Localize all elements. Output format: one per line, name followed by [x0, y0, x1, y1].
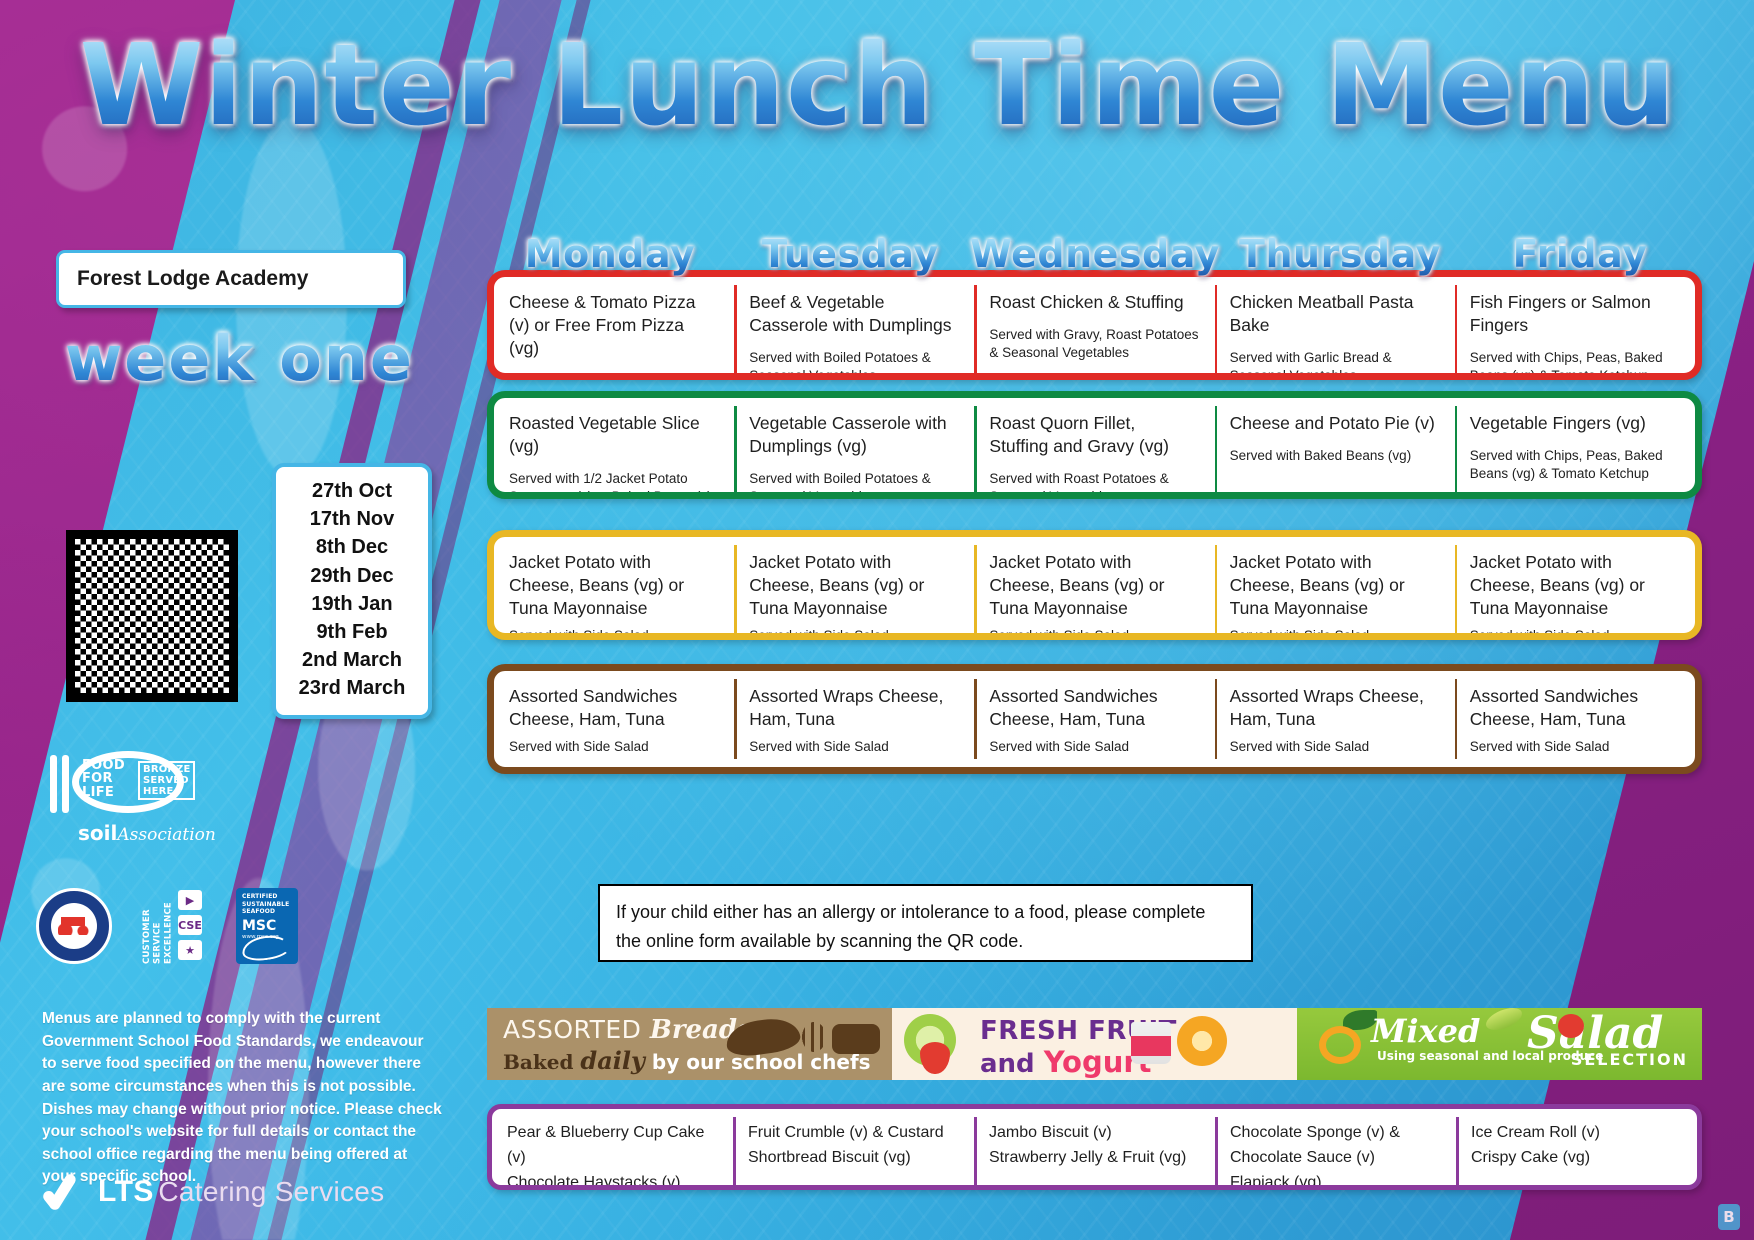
day-header-monday: Monday	[490, 232, 730, 276]
soil-word: soil	[78, 821, 117, 845]
dish-description: Served with 1/2 Jacket Potato or Savoury…	[509, 372, 718, 380]
ffl-line1: FOOD	[82, 759, 125, 772]
dish-description: Served with Side Salad	[1230, 738, 1439, 756]
dish-name: Jacket Potato with Cheese, Beans (vg) or…	[509, 551, 718, 620]
orange-slice-icon	[1177, 1016, 1227, 1066]
qr-code[interactable]	[66, 530, 238, 702]
dish-description: Served with Boiled Potatoes & Seasonal V…	[749, 470, 958, 499]
dish-description: Served with Chips, Peas, Baked Beans (vg…	[1470, 447, 1679, 483]
date-line: 19th Jan	[290, 590, 414, 618]
menu-cell: Assorted Wraps Cheese, Ham, TunaServed w…	[734, 671, 974, 767]
day-header-wednesday: Wednesday	[970, 232, 1220, 276]
dish-name: Jacket Potato with Cheese, Beans (vg) or…	[989, 551, 1198, 620]
dish-description: Served with Boiled Potatoes & Seasonal V…	[749, 349, 958, 380]
menu-cell: Assorted Sandwiches Cheese, Ham, TunaSer…	[1455, 671, 1695, 767]
dish-name: Beef & Vegetable Casserole with Dumpling…	[749, 291, 958, 337]
banner-fresh-fruit-yogurt: FRESH FRUIT and Yogurt	[892, 1008, 1297, 1080]
food-for-life-text: FOOD FOR LIFE	[82, 759, 125, 799]
dish-description: Served with Side Salad	[509, 738, 718, 756]
menu-cell: Jacket Potato with Cheese, Beans (vg) or…	[974, 537, 1214, 640]
cse-play-icon: ▶	[178, 890, 202, 910]
dish-name: Fruit Crumble (v) & Custard Shortbread B…	[748, 1121, 958, 1171]
dish-name: Jacket Potato with Cheese, Beans (vg) or…	[1470, 551, 1679, 620]
salad-subtext: Using seasonal and local produce	[1377, 1049, 1603, 1063]
dish-description: Served with Roast Potatoes & Seasonal Ve…	[989, 470, 1198, 499]
menu-poster: Winter Lunch Time Menu Forest Lodge Acad…	[0, 0, 1754, 1240]
bread-headline: ASSORTED Breads	[503, 1015, 752, 1045]
yogurt-pot-icon	[1131, 1022, 1171, 1064]
cse-star-icon: ★	[178, 940, 202, 960]
menu-cell: Vegetable Casserole with Dumplings (vg)S…	[734, 398, 974, 499]
tractor-icon	[51, 903, 97, 949]
cucumber-icon	[1483, 1008, 1525, 1034]
date-line: 17th Nov	[290, 505, 414, 533]
bread-line2a: Baked	[503, 1050, 580, 1074]
dish-description: Served with Side Salad	[749, 738, 958, 756]
menu-cell: Cheese & Tomato Pizza (v) or Free From P…	[494, 277, 734, 380]
dish-name: Ice Cream Roll (v) Crispy Cake (vg)	[1471, 1121, 1681, 1171]
menu-cell: Vegetable Fingers (vg)Served with Chips,…	[1455, 398, 1695, 499]
dish-name: Cheese and Potato Pie (v)	[1230, 412, 1439, 435]
menu-cell: Cheese and Potato Pie (v)Served with Bak…	[1215, 398, 1455, 499]
dish-name: Assorted Sandwiches Cheese, Ham, Tuna	[509, 685, 718, 731]
msc-line2: MSC	[242, 918, 293, 934]
dish-name: Fish Fingers or Salmon Fingers	[1470, 291, 1679, 337]
date-line: 23rd March	[290, 674, 414, 702]
steam-icon	[802, 1022, 826, 1052]
date-line: 9th Feb	[290, 618, 414, 646]
salad-word1: Mixed	[1371, 1012, 1480, 1050]
fork-icon	[50, 755, 57, 813]
fruit-line2a: and	[980, 1049, 1044, 1079]
tomato-icon	[1558, 1014, 1584, 1038]
page-title: Winter Lunch Time Menu	[48, 28, 1708, 146]
menu-cell: Jambo Biscuit (v) Strawberry Jelly & Fru…	[974, 1109, 1215, 1190]
dish-name: Roast Chicken & Stuffing	[989, 291, 1198, 314]
dish-name: Jacket Potato with Cheese, Beans (vg) or…	[749, 551, 958, 620]
dish-name: Roasted Vegetable Slice (vg)	[509, 412, 718, 458]
menu-cell: Assorted Wraps Cheese, Ham, TunaServed w…	[1215, 671, 1455, 767]
dish-name: Jambo Biscuit (v) Strawberry Jelly & Fru…	[989, 1121, 1199, 1171]
menu-cell: Beef & Vegetable Casserole with Dumpling…	[734, 277, 974, 380]
menu-cell: Fruit Crumble (v) & Custard Shortbread B…	[733, 1109, 974, 1190]
bronze-line3: HERE	[143, 786, 190, 797]
soil-association-text: soilAssociation	[78, 821, 216, 845]
date-line: 29th Dec	[290, 562, 414, 590]
bread-roll-icon	[832, 1024, 880, 1054]
lts-light-label: Catering Services	[158, 1176, 384, 1207]
msc-line1: CERTIFIED SUSTAINABLE SEAFOOD	[242, 893, 293, 916]
customer-service-excellence-icon: CUSTOMER SERVICE EXCELLENCE ▶ CSE ★	[142, 890, 216, 964]
menu-cell: Jacket Potato with Cheese, Beans (vg) or…	[1455, 537, 1695, 640]
menu-cell: Jacket Potato with Cheese, Beans (vg) or…	[734, 537, 974, 640]
side-options-banners: ASSORTED Breads Baked daily by our schoo…	[487, 1008, 1702, 1080]
menu-cell: Chocolate Sponge (v) & Chocolate Sauce (…	[1215, 1109, 1456, 1190]
dish-description: Served with Side Salad	[1470, 738, 1679, 756]
lts-catering-logo: LTS Catering Services	[44, 1175, 384, 1209]
day-header-friday: Friday	[1460, 232, 1700, 276]
cse-badge-label: CSE	[178, 915, 202, 935]
dish-description: Served with Chips, Peas, Baked Beans (vg…	[1470, 349, 1679, 380]
dish-description: Served with Gravy, Roast Potatoes & Seas…	[989, 326, 1198, 362]
tractor-glyph	[58, 915, 90, 935]
dish-name: Pear & Blueberry Cup Cake (v) Chocolate …	[507, 1121, 717, 1190]
dish-name: Vegetable Casserole with Dumplings (vg)	[749, 412, 958, 458]
school-name-box: Forest Lodge Academy	[56, 250, 406, 308]
dish-name: Assorted Wraps Cheese, Ham, Tuna	[1230, 685, 1439, 731]
pepper-icon	[1319, 1026, 1361, 1064]
disclaimer-text: Menus are planned to comply with the cur…	[42, 1008, 442, 1189]
dish-name: Chocolate Sponge (v) & Chocolate Sauce (…	[1230, 1121, 1440, 1190]
menu-row-vegetarian: Roasted Vegetable Slice (vg)Served with …	[487, 391, 1702, 499]
qr-code-pattern	[75, 539, 229, 693]
date-line: 2nd March	[290, 646, 414, 674]
dish-name: Vegetable Fingers (vg)	[1470, 412, 1679, 435]
menu-cell: Chicken Meatball Pasta BakeServed with G…	[1215, 277, 1455, 380]
dish-name: Cheese & Tomato Pizza (v) or Free From P…	[509, 291, 718, 360]
bread-line2b: daily	[580, 1046, 645, 1075]
menu-cell: Roast Chicken & StuffingServed with Grav…	[974, 277, 1214, 380]
menu-cell: Roasted Vegetable Slice (vg)Served with …	[494, 398, 734, 499]
checkmark-icon	[44, 1176, 88, 1208]
dish-description: Served with Side Salad	[1470, 627, 1679, 640]
menu-row-jacket-potato: Jacket Potato with Cheese, Beans (vg) or…	[487, 530, 1702, 640]
assured-food-standards-icon	[36, 888, 112, 964]
dish-name: Chicken Meatball Pasta Bake	[1230, 291, 1439, 337]
cse-vertical-label: CUSTOMER SERVICE EXCELLENCE	[142, 892, 174, 964]
banner-mixed-salad: Mixed Salad Using seasonal and local pro…	[1297, 1008, 1702, 1080]
bronze-line2: SERVED	[143, 775, 190, 786]
association-word: Association	[117, 825, 216, 845]
dish-description: Served with 1/2 Jacket Potato Sweetcorn …	[509, 470, 718, 499]
menu-cell: Pear & Blueberry Cup Cake (v) Chocolate …	[492, 1109, 733, 1190]
salad-selection-label: SELECTION	[1571, 1050, 1688, 1069]
menu-row-main-meal: Cheese & Tomato Pizza (v) or Free From P…	[487, 270, 1702, 380]
dish-description: Served with Side Salad	[509, 627, 718, 640]
dish-description: Served with Side Salad	[749, 627, 958, 640]
lts-bold-label: LTS	[98, 1175, 154, 1208]
dish-description: Served with Garlic Bread & Seasonal Vege…	[1230, 349, 1439, 380]
menu-cell: Roast Quorn Fillet, Stuffing and Gravy (…	[974, 398, 1214, 499]
menu-row-desserts: Pear & Blueberry Cup Cake (v) Chocolate …	[487, 1104, 1702, 1190]
day-headers-row: MondayTuesdayWednesdayThursdayFriday	[490, 232, 1700, 276]
school-name-label: Forest Lodge Academy	[77, 267, 308, 291]
dish-description: Served with Side Salad	[989, 627, 1198, 640]
dish-description: Served with Side Salad	[1230, 627, 1439, 640]
dates-box: 27th Oct17th Nov8th Dec29th Dec19th Jan9…	[272, 463, 432, 719]
dish-name: Roast Quorn Fillet, Stuffing and Gravy (…	[989, 412, 1198, 458]
menu-cell: Jacket Potato with Cheese, Beans (vg) or…	[1215, 537, 1455, 640]
menu-cell: Assorted Sandwiches Cheese, Ham, TunaSer…	[494, 671, 734, 767]
accreditation-badges: CUSTOMER SERVICE EXCELLENCE ▶ CSE ★ CERT…	[36, 888, 336, 966]
dish-name: Assorted Sandwiches Cheese, Ham, Tuna	[989, 685, 1198, 731]
knife-icon	[62, 755, 69, 813]
ffl-line3: LIFE	[82, 786, 125, 799]
strawberry-icon	[920, 1042, 950, 1074]
banner-assorted-breads: ASSORTED Breads Baked daily by our schoo…	[487, 1008, 892, 1080]
bronze-award-box: BRONZE SERVED HERE	[138, 761, 195, 800]
menu-cell: Assorted Sandwiches Cheese, Ham, TunaSer…	[974, 671, 1214, 767]
menu-cell: Ice Cream Roll (v) Crispy Cake (vg)	[1456, 1109, 1697, 1190]
date-line: 27th Oct	[290, 477, 414, 505]
bronze-line1: BRONZE	[143, 764, 190, 775]
menu-row-sandwiches: Assorted Sandwiches Cheese, Ham, TunaSer…	[487, 664, 1702, 774]
day-header-thursday: Thursday	[1220, 232, 1460, 276]
dish-name: Assorted Wraps Cheese, Ham, Tuna	[749, 685, 958, 731]
dish-description: Served with Baked Beans (vg)	[1230, 447, 1439, 465]
date-line: 8th Dec	[290, 533, 414, 561]
dish-description: Served with Side Salad	[989, 738, 1198, 756]
menu-cell: Jacket Potato with Cheese, Beans (vg) or…	[494, 537, 734, 640]
bread-line1a: ASSORTED	[503, 1015, 650, 1044]
dish-name: Assorted Sandwiches Cheese, Ham, Tuna	[1470, 685, 1679, 731]
menu-cell: Fish Fingers or Salmon FingersServed wit…	[1455, 277, 1695, 380]
page-corner-badge: B	[1718, 1204, 1740, 1230]
dish-name: Jacket Potato with Cheese, Beans (vg) or…	[1230, 551, 1439, 620]
day-header-tuesday: Tuesday	[730, 232, 970, 276]
allergy-notice: If your child either has an allergy or i…	[598, 884, 1253, 962]
food-for-life-logo: FOOD FOR LIFE BRONZE SERVED HERE soilAss…	[38, 745, 218, 850]
week-label: week one	[65, 322, 414, 395]
ffl-line2: FOR	[82, 772, 125, 785]
msc-certified-icon: CERTIFIED SUSTAINABLE SEAFOOD MSC www.ms…	[236, 888, 298, 964]
fruit-subline: and Yogurt	[980, 1045, 1152, 1079]
